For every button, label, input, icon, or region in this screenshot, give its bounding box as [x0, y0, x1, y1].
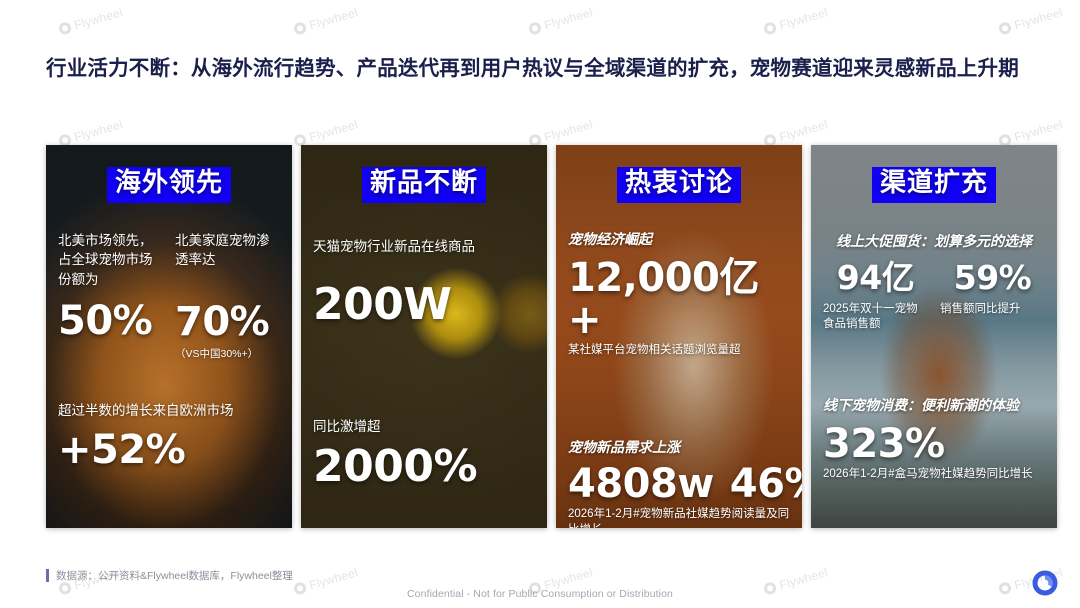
card4-col2: 59% 销售额同比提升: [940, 261, 1045, 333]
card-chip-2: 新品不断: [362, 167, 486, 203]
card1-col2: 北美家庭宠物渗透率达 70% （VS中国30%+）: [175, 231, 280, 361]
watermark-label: Flywheel: [1013, 5, 1065, 32]
watermark-label: Flywheel: [543, 5, 595, 32]
watermark-label: Flywheel: [543, 117, 595, 144]
card2-block2-value: 2000%: [313, 444, 535, 490]
card2-block1-value: 200W: [313, 282, 535, 328]
watermark-label: Flywheel: [778, 5, 830, 32]
footer: 数据源：公开资料&Flywheel数据库，Flywheel整理 Confiden…: [0, 560, 1080, 608]
card-content-2: 新品不断 天猫宠物行业新品在线商品 200W 同比激增超 2000%: [301, 145, 547, 528]
card1-block2-caption: 超过半数的增长来自欧洲市场: [58, 401, 280, 421]
flywheel-watermark: Flywheel: [292, 5, 359, 37]
card3-block1-value: 12,000亿+: [568, 257, 790, 341]
card3-block1: 宠物经济崛起 12,000亿+ 某社媒平台宠物相关话题浏览量超: [568, 229, 790, 359]
card-new-products[interactable]: 新品不断 天猫宠物行业新品在线商品 200W 同比激增超 2000%: [301, 145, 547, 528]
card2-block2: 同比激增超 2000%: [313, 417, 535, 491]
source-text: 数据源：公开资料&Flywheel数据库，Flywheel整理: [56, 568, 293, 583]
watermark-ring-icon: [763, 21, 778, 36]
card2-block1-caption: 天猫宠物行业新品在线商品: [313, 237, 535, 257]
watermark-ring-icon: [998, 21, 1013, 36]
flywheel-logo: [1032, 570, 1058, 596]
card2-block2-caption: 同比激增超: [313, 417, 535, 437]
card3-block1-caption: 宠物经济崛起: [568, 229, 790, 249]
card4-block2-note: 2026年1-2月#盒马宠物社媒趋势同比增长: [823, 467, 1045, 483]
card3-block2-caption: 宠物新品需求上涨: [568, 437, 790, 457]
watermark-label: Flywheel: [308, 117, 360, 144]
watermark-ring-icon: [293, 21, 308, 36]
flywheel-watermark: Flywheel: [527, 5, 594, 37]
card1-block2: 超过半数的增长来自欧洲市场 +52%: [58, 401, 280, 471]
card3-block2-value2: 46%: [730, 463, 802, 505]
card4-col2-value: 59%: [940, 261, 1045, 296]
watermark-ring-icon: [58, 21, 73, 36]
card1-col2-value: 70%: [175, 301, 280, 343]
card4-block1-caption: 线上大促囤货：划算多元的选择: [823, 231, 1045, 251]
card-chip-1: 海外领先: [107, 167, 231, 203]
card1-block1: 北美市场领先，占全球宠物市场份额为 50% 北美家庭宠物渗透率达 70% （VS…: [58, 231, 280, 361]
flywheel-watermark: Flywheel: [57, 5, 124, 37]
watermark-ring-icon: [528, 21, 543, 36]
card4-col1-note: 2025年双十一宠物食品销售额: [823, 302, 928, 333]
card1-col1-value: 50%: [58, 300, 163, 342]
card-overseas-leading[interactable]: 海外领先 北美市场领先，占全球宠物市场份额为 50% 北美家庭宠物渗透率达 70…: [46, 145, 292, 528]
flywheel-watermark: Flywheel: [762, 5, 829, 37]
title-bar: 行业活力不断：从海外流行趋势、产品迭代再到用户热议与全域渠道的扩充，宠物赛道迎来…: [46, 56, 1046, 82]
page-title: 行业活力不断：从海外流行趋势、产品迭代再到用户热议与全域渠道的扩充，宠物赛道迎来…: [46, 56, 1046, 82]
source-note: 数据源：公开资料&Flywheel数据库，Flywheel整理: [46, 568, 293, 583]
card1-block2-value: +52%: [58, 429, 280, 471]
watermark-label: Flywheel: [73, 117, 125, 144]
card-row: 海外领先 北美市场领先，占全球宠物市场份额为 50% 北美家庭宠物渗透率达 70…: [46, 145, 1052, 528]
card1-col2-note: （VS中国30%+）: [175, 346, 280, 361]
slide-canvas: 行业活力不断：从海外流行趋势、产品迭代再到用户热议与全域渠道的扩充，宠物赛道迎来…: [0, 0, 1080, 608]
card-chip-4: 渠道扩充: [872, 167, 996, 203]
card1-col1: 北美市场领先，占全球宠物市场份额为 50%: [58, 231, 163, 361]
card3-block2-value: 4808w: [568, 463, 714, 505]
card1-col1-caption: 北美市场领先，占全球宠物市场份额为: [58, 231, 163, 290]
card3-block2: 宠物新品需求上涨 4808w 46% 2026年1-2月#宠物新品社媒趋势阅读量…: [568, 437, 790, 528]
card4-col1: 94亿 2025年双十一宠物食品销售额: [823, 261, 928, 333]
card-hot-discussion[interactable]: 热衷讨论 宠物经济崛起 12,000亿+ 某社媒平台宠物相关话题浏览量超 宠物新…: [556, 145, 802, 528]
card1-col2-caption: 北美家庭宠物渗透率达: [175, 231, 280, 270]
card4-block2: 线下宠物消费：便利新潮的体验 323% 2026年1-2月#盒马宠物社媒趋势同比…: [823, 395, 1045, 483]
confidentiality-notice: Confidential - Not for Public Consumptio…: [0, 588, 1080, 600]
card-channel-expansion[interactable]: 渠道扩充 线上大促囤货：划算多元的选择 94亿 2025年双十一宠物食品销售额 …: [811, 145, 1057, 528]
card2-block1: 天猫宠物行业新品在线商品 200W: [313, 237, 535, 329]
watermark-label: Flywheel: [778, 117, 830, 144]
card-chip-3: 热衷讨论: [617, 167, 741, 203]
card-content-1: 海外领先 北美市场领先，占全球宠物市场份额为 50% 北美家庭宠物渗透率达 70…: [46, 145, 292, 528]
watermark-label: Flywheel: [1013, 117, 1065, 144]
card4-col2-note: 销售额同比提升: [940, 302, 1045, 318]
watermark-label: Flywheel: [308, 5, 360, 32]
card3-block1-note: 某社媒平台宠物相关话题浏览量超: [568, 343, 790, 359]
card4-block2-value: 323%: [823, 423, 1045, 465]
flywheel-watermark: Flywheel: [997, 5, 1064, 37]
card-content-3: 热衷讨论 宠物经济崛起 12,000亿+ 某社媒平台宠物相关话题浏览量超 宠物新…: [556, 145, 802, 528]
card4-block1: 线上大促囤货：划算多元的选择 94亿 2025年双十一宠物食品销售额 59% 销…: [823, 231, 1045, 333]
card4-block2-caption: 线下宠物消费：便利新潮的体验: [823, 395, 1045, 415]
card-content-4: 渠道扩充 线上大促囤货：划算多元的选择 94亿 2025年双十一宠物食品销售额 …: [811, 145, 1057, 528]
card4-col1-value: 94亿: [823, 261, 928, 296]
card3-block2-note: 2026年1-2月#宠物新品社媒趋势阅读量及同比增长: [568, 507, 790, 528]
watermark-label: Flywheel: [73, 5, 125, 32]
source-accent-bar: [46, 569, 49, 582]
